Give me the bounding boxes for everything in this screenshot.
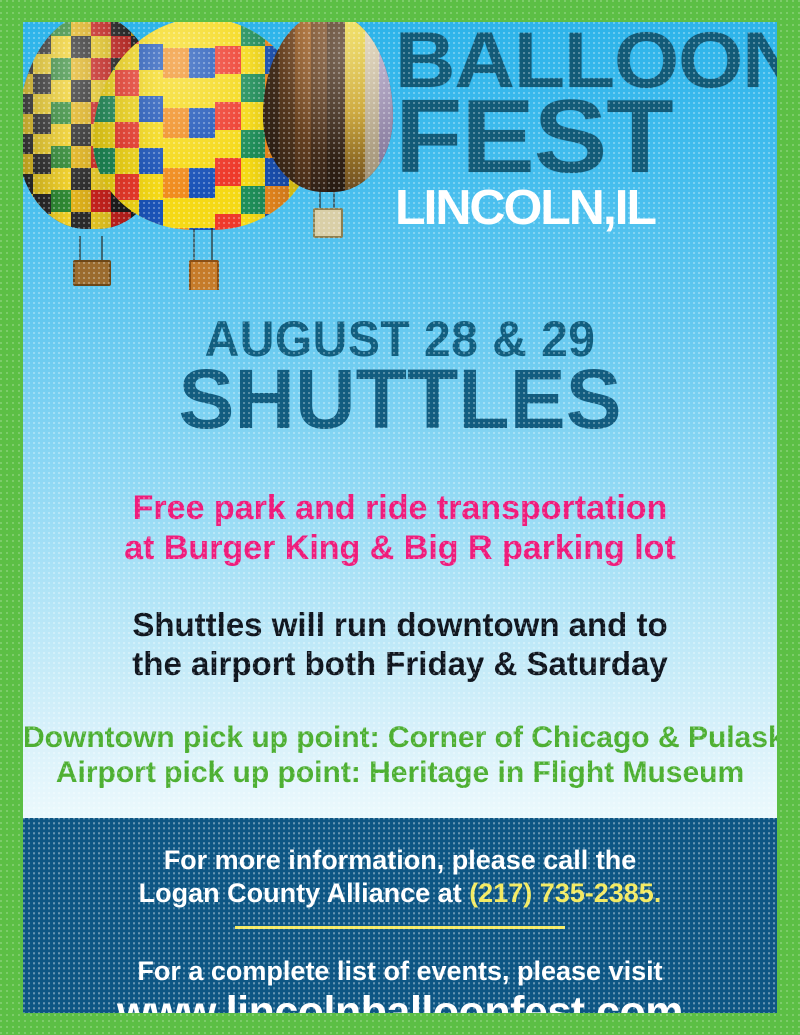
footer-org-text: Logan County Alliance at — [139, 878, 470, 908]
pink-line-2: at Burger King & Big R parking lot — [23, 528, 777, 568]
pink-message-block: Free park and ride transportation at Bur… — [23, 488, 777, 568]
footer-panel: For more information, please call the Lo… — [23, 818, 777, 1013]
poster-root: BALLOON FEST LINCOLN,IL AUGUST 28 & 29 S… — [0, 0, 800, 1035]
title-fest: FEST — [395, 95, 777, 180]
balloon-photo — [23, 22, 395, 290]
poster-title-block: BALLOON FEST LINCOLN,IL — [395, 28, 777, 233]
pink-line-1: Free park and ride transportation — [23, 488, 777, 528]
green-pickup-block: Downtown pick up point: Corner of Chicag… — [23, 720, 777, 791]
right-balloon — [263, 22, 393, 242]
website-url[interactable]: www.lincolnballoonfest.com — [23, 990, 777, 1013]
right-balloon-basket — [313, 208, 343, 238]
downtown-pickup-line: Downtown pick up point: Corner of Chicag… — [23, 720, 777, 755]
right-balloon-envelope — [263, 22, 393, 192]
phone-number[interactable]: (217) 735-2385. — [469, 878, 661, 908]
navy-message-block: Shuttles will run downtown and to the ai… — [23, 606, 777, 684]
center-balloon-basket — [189, 260, 219, 290]
event-subject: SHUTTLES — [23, 360, 777, 440]
title-city: LINCOLN,IL — [395, 184, 777, 233]
footer-info-line-1: For more information, please call the — [23, 844, 777, 877]
event-heading-block: AUGUST 28 & 29 SHUTTLES — [23, 314, 777, 440]
airport-pickup-line: Airport pick up point: Heritage in Fligh… — [23, 755, 777, 790]
footer-visit-line: For a complete list of events, please vi… — [23, 955, 777, 988]
poster-inner: BALLOON FEST LINCOLN,IL AUGUST 28 & 29 S… — [23, 22, 777, 1013]
footer-info-line-2: Logan County Alliance at (217) 735-2385. — [23, 877, 777, 910]
navy-line-2: the airport both Friday & Saturday — [23, 645, 777, 684]
footer-divider — [235, 926, 565, 929]
navy-line-1: Shuttles will run downtown and to — [23, 606, 777, 645]
